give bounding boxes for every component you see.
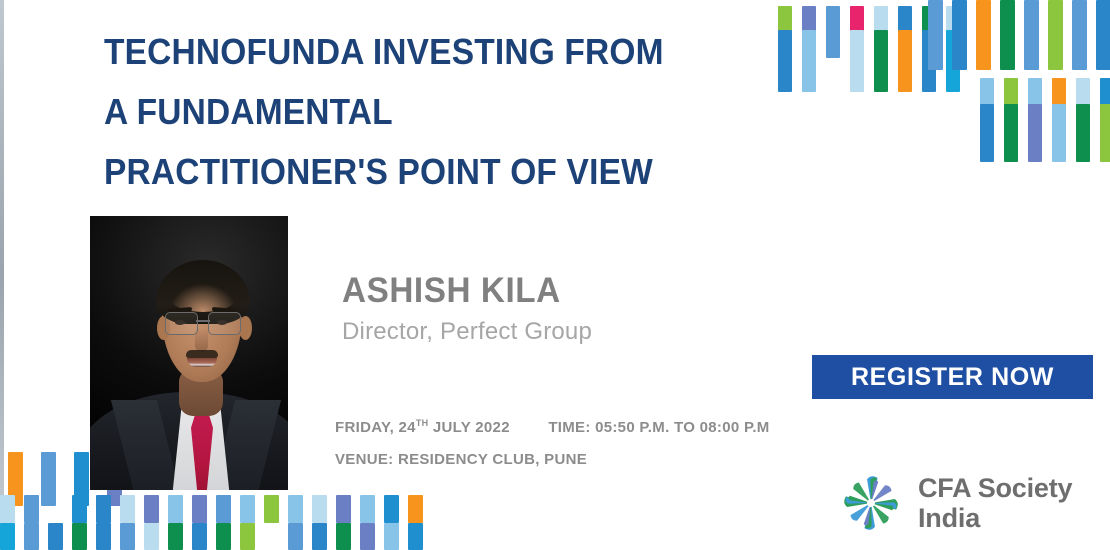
decor-bar: [96, 495, 111, 523]
left-edge-strip: [0, 0, 4, 550]
decor-bar: [264, 495, 279, 523]
cfa-logo-text: CFA Society India: [918, 473, 1072, 533]
event-day: FRIDAY,: [335, 419, 394, 436]
decor-bar: [1072, 0, 1087, 70]
event-datetime-line: FRIDAY, 24TH JULY 2022 TIME: 05:50 P.M. …: [335, 418, 770, 436]
title-line-3: PRACTITIONER'S POINT OF VIEW: [104, 142, 727, 202]
decor-bar: [240, 495, 255, 523]
decor-bar: [1048, 0, 1063, 70]
decor-bar: [96, 523, 111, 550]
page-title: TECHNOFUNDA INVESTING FROM A FUNDAMENTAL…: [104, 22, 774, 202]
decor-bar: [168, 523, 183, 550]
decor-bar: [264, 523, 279, 550]
decor-bar: [1004, 104, 1018, 162]
decor-bar: [288, 495, 303, 523]
event-date-number: 24: [399, 419, 416, 436]
decor-bar: [1000, 0, 1015, 70]
decor-bar: [0, 495, 15, 523]
decor-bar: [24, 523, 39, 550]
glasses-lens-right: [208, 312, 241, 335]
top-right-bars-row-4: [980, 104, 1110, 162]
decor-bar: [24, 495, 39, 523]
register-now-button[interactable]: REGISTER NOW: [812, 355, 1093, 399]
event-venue: VENUE: RESIDENCY CLUB, PUNE: [335, 451, 587, 468]
cfa-logo-line-2: India: [918, 503, 1072, 533]
title-line-2: A FUNDAMENTAL: [104, 82, 727, 142]
decor-bar: [192, 523, 207, 550]
decor-bar: [312, 523, 327, 550]
title-line-1: TECHNOFUNDA INVESTING FROM: [104, 22, 727, 82]
decor-bar: [72, 523, 87, 550]
decor-bar: [826, 30, 840, 92]
decor-bar: [980, 104, 994, 162]
decor-bar: [1096, 0, 1110, 70]
glasses-lens-left: [165, 312, 198, 335]
decor-bar: [976, 0, 991, 70]
decor-bar: [928, 0, 943, 70]
cfa-pinwheel-icon: [838, 470, 904, 536]
event-poster: TECHNOFUNDA INVESTING FROM A FUNDAMENTAL…: [0, 0, 1110, 550]
decor-bar: [1100, 104, 1110, 162]
bottom-left-bars-row-2: [0, 523, 423, 550]
speaker-photo: [90, 216, 288, 490]
decor-bar: [1076, 104, 1090, 162]
event-date-ordinal: TH: [416, 418, 429, 428]
decor-bar: [384, 495, 399, 523]
top-right-bars-row-2: [928, 0, 1110, 70]
decor-bar: [48, 495, 63, 523]
decor-bar: [144, 495, 159, 523]
cfa-society-india-logo: CFA Society India: [838, 470, 1072, 536]
speaker-name: ASHISH KILA: [342, 271, 561, 311]
photo-mustache: [186, 350, 218, 358]
decor-bar: [1052, 104, 1066, 162]
decor-bar: [120, 495, 135, 523]
decor-bar: [288, 523, 303, 550]
decor-bar: [360, 495, 375, 523]
decor-bar: [144, 523, 159, 550]
decor-bar: [72, 495, 87, 523]
decor-bar: [192, 495, 207, 523]
decor-bar: [336, 495, 351, 523]
decor-bar: [408, 523, 423, 550]
decor-bar: [360, 523, 375, 550]
decor-bar: [778, 30, 792, 92]
decor-bar: [874, 30, 888, 92]
decor-bar: [312, 495, 327, 523]
decor-bar: [384, 523, 399, 550]
photo-nose: [195, 328, 208, 352]
decor-bar: [408, 495, 423, 523]
decor-bar: [240, 523, 255, 550]
event-time: TIME: 05:50 P.M. TO 08:00 P.M: [548, 419, 769, 436]
speaker-role: Director, Perfect Group: [342, 318, 592, 346]
bottom-left-bars-row-1: [0, 495, 423, 523]
decor-bar: [168, 495, 183, 523]
decor-bar: [1028, 104, 1042, 162]
decor-bar: [48, 523, 63, 550]
decor-bar: [120, 523, 135, 550]
decor-bar: [336, 523, 351, 550]
decor-bar: [0, 523, 15, 550]
decor-bar: [898, 30, 912, 92]
decor-bar: [802, 30, 816, 92]
decor-bar: [216, 523, 231, 550]
decor-bar: [1024, 0, 1039, 70]
decor-bar: [850, 30, 864, 92]
cfa-logo-line-1: CFA Society: [918, 473, 1072, 503]
event-date-rest: JULY 2022: [433, 419, 510, 436]
decor-bar: [216, 495, 231, 523]
decor-bar: [952, 0, 967, 70]
photo-mouth: [187, 358, 217, 367]
